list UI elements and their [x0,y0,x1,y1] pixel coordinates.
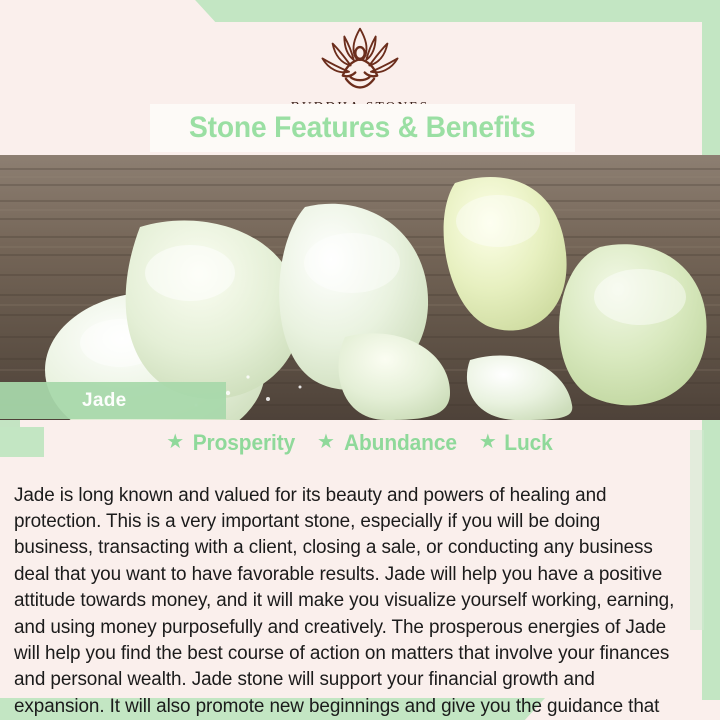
stone-name-label: Jade [82,390,127,412]
stone-photo [0,155,720,420]
stone-description: Jade is long known and valued for its be… [14,482,684,720]
star-icon: ★ [479,432,497,452]
star-icon: ★ [166,432,184,452]
benefit-item-luck: ★ Luck [479,430,554,456]
brand-block: BUDDHA STONES [0,24,720,115]
benefit-item-abundance: ★ Abundance [317,430,460,456]
star-icon: ★ [317,432,335,452]
stone-photo-artwork [0,155,720,420]
headline-band: Stone Features & Benefits [150,104,575,152]
benefit-item-prosperity: ★ Prosperity [166,430,298,456]
benefits-row: ★ Prosperity ★ Abundance ★ Luck [0,430,720,456]
benefit-label: Abundance [344,430,457,456]
benefit-label: Prosperity [193,430,295,456]
lotus-meditation-icon [312,24,408,96]
page-title: Stone Features & Benefits [189,111,535,145]
decorative-top-green-band [0,0,720,22]
benefit-label: Luck [504,430,552,456]
stone-benefits-poster: BUDDHA STONES Stone Features & Benefits [0,0,720,720]
decorative-right-lower-green-block [690,430,704,630]
stone-caption-band: Jade [0,382,226,419]
